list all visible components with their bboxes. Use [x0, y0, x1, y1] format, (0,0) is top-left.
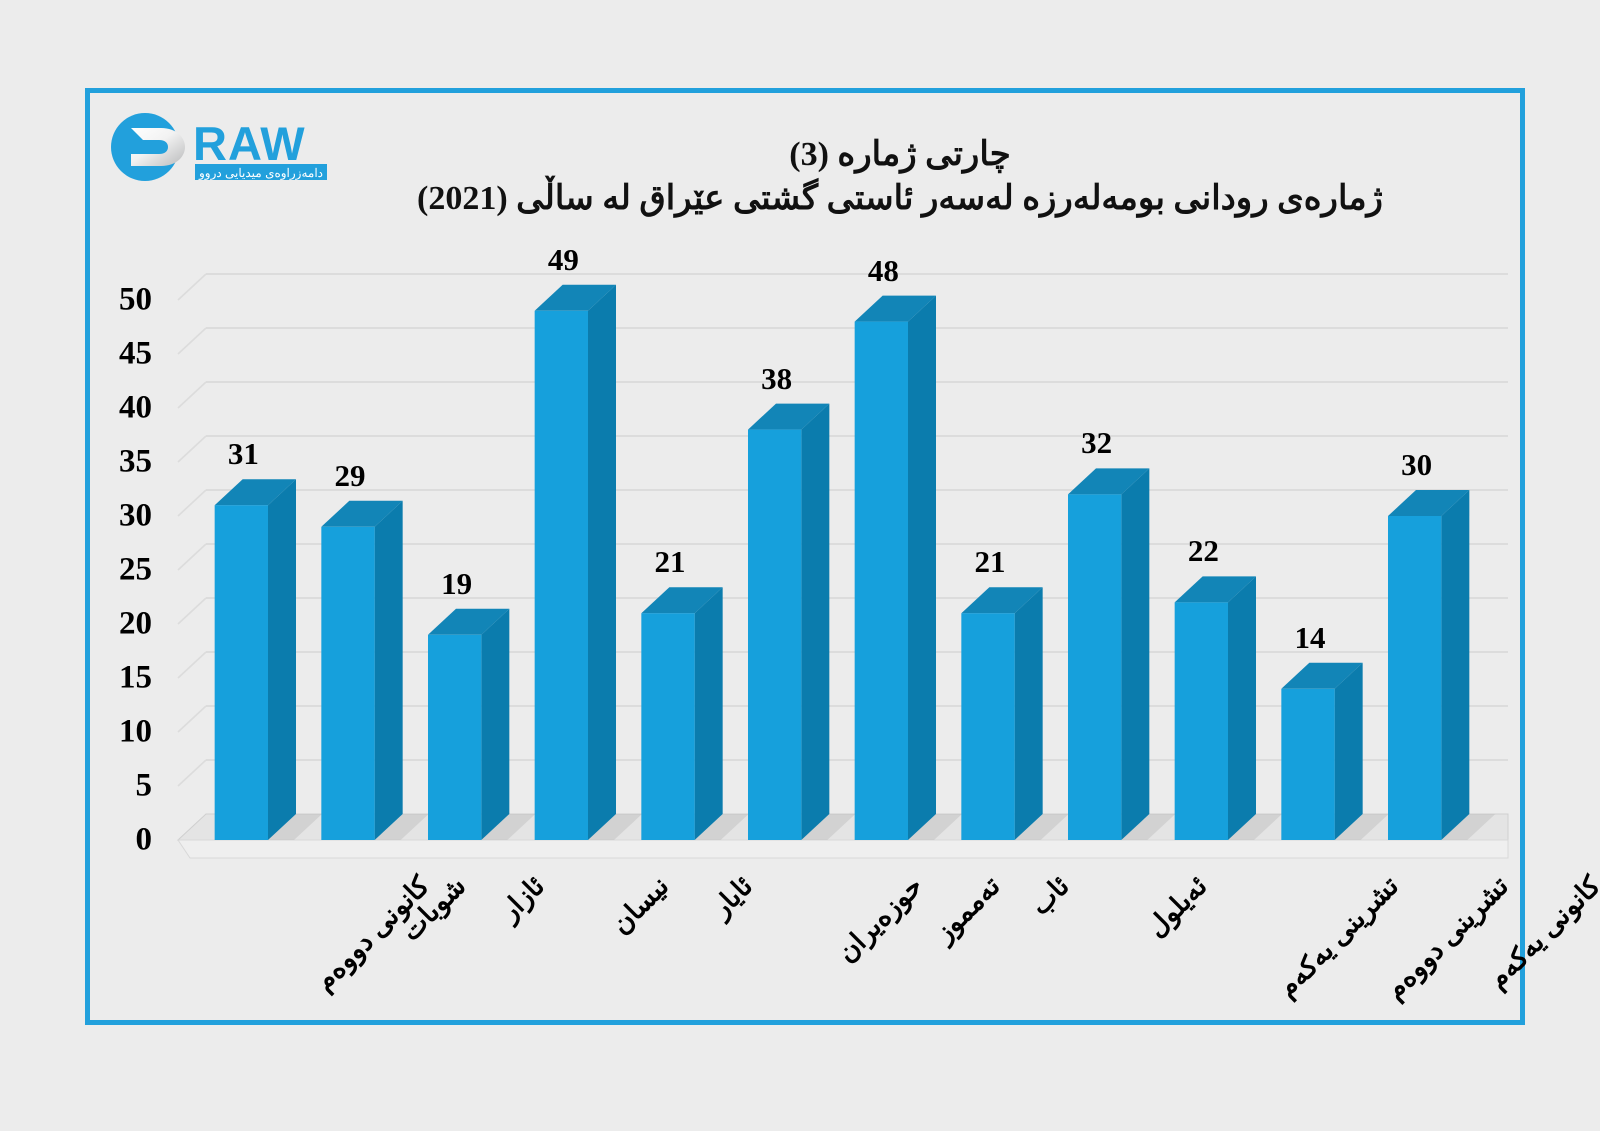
gridline-depth — [178, 652, 206, 678]
bar-side-face — [908, 296, 936, 840]
logo-svg: RAW دامەزراوەی میدیایی دروو — [105, 108, 335, 186]
bar-value-label: 49 — [548, 244, 579, 275]
gridline-depth — [178, 274, 206, 300]
bar-front-face — [641, 613, 694, 840]
bar-side-face — [1335, 663, 1363, 840]
chart-title-block: چارتی ژماره (3) ژمارەی رودانی بومەلەرزە … — [330, 133, 1470, 220]
gridline-depth — [178, 382, 206, 408]
gridline-depth — [178, 760, 206, 786]
bar-front-face — [855, 322, 908, 840]
chart-floor-front — [178, 840, 1508, 858]
bar-side-face — [801, 404, 829, 840]
bar-front-face — [1175, 602, 1228, 840]
bar-side-face — [1441, 490, 1469, 840]
gridline-depth — [178, 436, 206, 462]
chart-card: RAW دامەزراوەی میدیایی دروو چارتی ژماره … — [85, 88, 1525, 1025]
logo-wordmark: RAW — [193, 117, 306, 170]
gridline-depth — [178, 706, 206, 732]
bar-front-face — [1068, 494, 1121, 840]
bar-front-face — [535, 311, 588, 840]
bar-side-face — [1228, 576, 1256, 840]
bar-value-label: 21 — [655, 546, 686, 577]
bar-side-face — [1121, 468, 1149, 840]
bar-value-label: 29 — [335, 460, 366, 491]
bar-side-face — [1015, 587, 1043, 840]
bar-value-label: 31 — [228, 438, 259, 469]
bar-value-label: 32 — [1081, 427, 1112, 458]
draw-logo: RAW دامەزراوەی میدیایی دروو — [105, 108, 335, 186]
bar-value-label: 30 — [1401, 449, 1432, 480]
bar-side-face — [481, 609, 509, 840]
bar-value-label: 22 — [1188, 535, 1219, 566]
plot-region: 50454035302520151050 31کانونی دووەم29شوب… — [90, 268, 1520, 1023]
bar-value-label: 38 — [761, 363, 792, 394]
bar-value-label: 21 — [975, 546, 1006, 577]
bar-front-face — [1281, 689, 1334, 840]
bar-front-face — [748, 430, 801, 840]
bar-side-face — [375, 501, 403, 840]
bar-front-face — [428, 635, 481, 840]
bar-side-face — [695, 587, 723, 840]
bar-front-face — [1388, 516, 1441, 840]
bar-front-face — [961, 613, 1014, 840]
bar-front-face — [321, 527, 374, 840]
bar-side-face — [588, 285, 616, 840]
chart-title-line-2: ژمارەی رودانی بومەلەرزە لەسەر ئاستی گشتی… — [330, 177, 1470, 221]
chart-title-line-1: چارتی ژماره (3) — [330, 133, 1470, 177]
bar-value-label: 19 — [441, 568, 472, 599]
gridline-depth — [178, 490, 206, 516]
bar-side-face — [268, 479, 296, 840]
logo-tagline: دامەزراوەی میدیایی دروو — [198, 166, 323, 180]
bar-front-face — [215, 505, 268, 840]
gridline-depth — [178, 328, 206, 354]
gridline-depth — [178, 544, 206, 570]
bar-value-label: 48 — [868, 255, 899, 286]
gridline-depth — [178, 598, 206, 624]
bar-value-label: 14 — [1295, 622, 1326, 653]
